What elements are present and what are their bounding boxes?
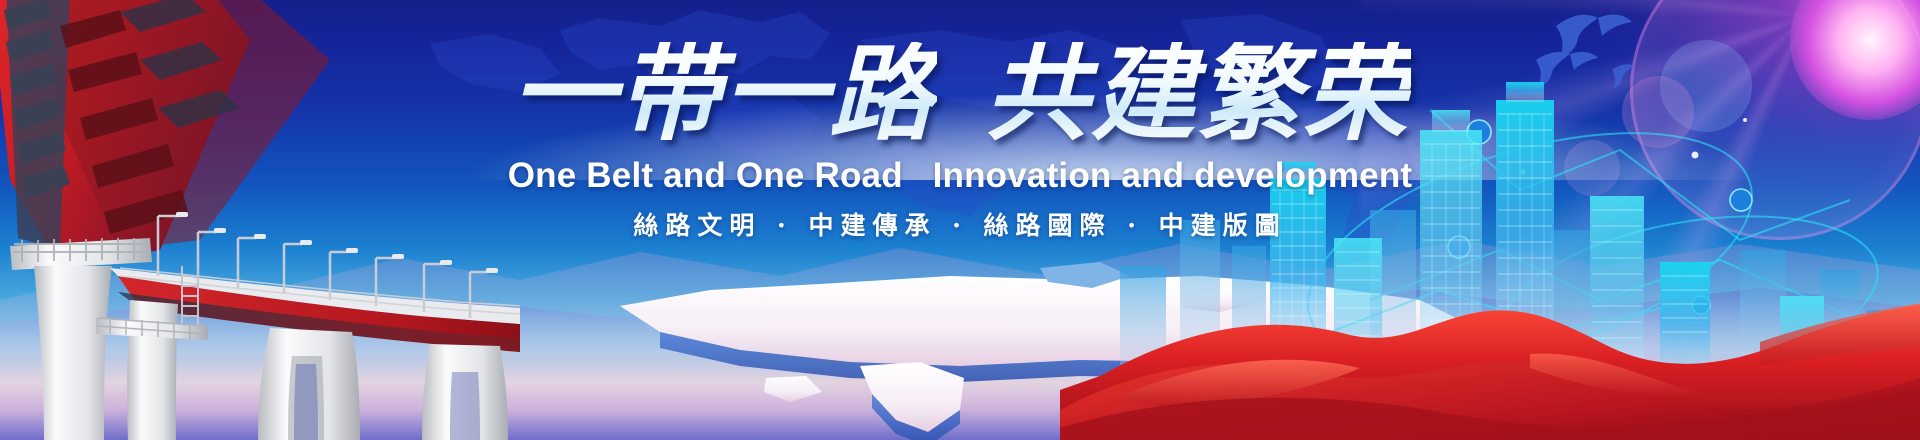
title-cn-left-group: 一带一路 [509,42,937,146]
title-char: 共建繁荣 [983,42,1411,146]
banner-text-block: 一带一路 共建繁荣 One Belt and One Road Innovati… [0,26,1920,242]
subtitle-english: One Belt and One Road Innovation and dev… [508,156,1413,196]
page-title: 一带一路 共建繁荣 [509,26,1411,146]
title-cn-right-group: 共建繁荣 [983,42,1411,146]
subtitle-chinese: 絲路文明 · 中建傳承 · 絲路國際 · 中建版圖 [633,206,1286,242]
title-char: 一带一路 [509,42,937,146]
red-silk-ribbon-icon [1060,250,1920,440]
belt-and-road-banner: 一带一路 共建繁荣 One Belt and One Road Innovati… [0,0,1920,440]
